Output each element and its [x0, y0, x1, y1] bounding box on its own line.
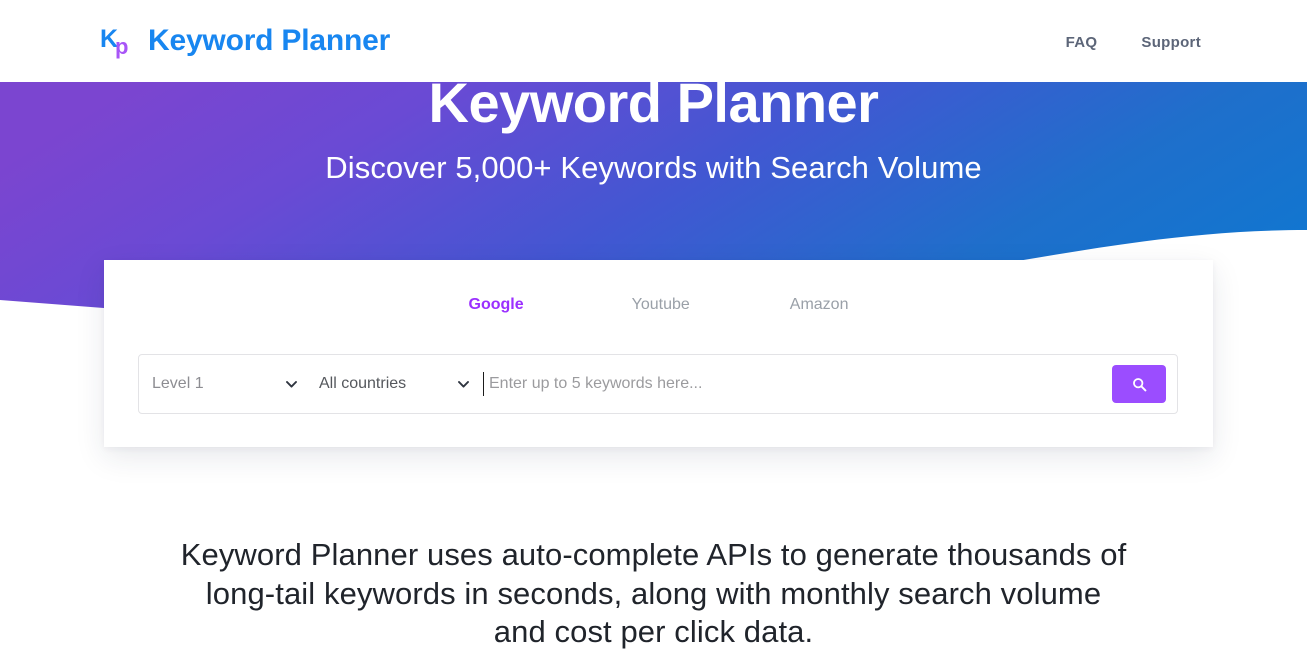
country-select-value: All countries — [319, 355, 406, 413]
keyword-input[interactable]: Enter up to 5 keywords here... — [483, 355, 1112, 413]
search-row: Level 1 All countries Enter up to 5 keyw… — [138, 354, 1178, 414]
tab-amazon[interactable]: Amazon — [780, 290, 859, 320]
engine-tabs: Google Youtube Amazon — [104, 290, 1213, 320]
nav-link-faq[interactable]: FAQ — [1060, 30, 1104, 55]
site-header: K p Keyword Planner FAQ Support — [0, 0, 1307, 82]
brand-logo-link[interactable]: K p Keyword Planner — [100, 21, 390, 61]
chevron-down-icon — [286, 381, 297, 388]
page-root: Keyword Planner Discover 5,000+ Keywords… — [0, 0, 1307, 656]
nav-link-support[interactable]: Support — [1135, 30, 1207, 55]
level-select[interactable]: Level 1 — [139, 355, 311, 413]
brand-title: Keyword Planner — [148, 21, 390, 61]
tab-youtube[interactable]: Youtube — [622, 290, 700, 320]
kp-monogram-icon: K p — [100, 21, 134, 61]
hero-subtitle: Discover 5,000+ Keywords with Search Vol… — [0, 148, 1307, 188]
hero-text-block: Keyword Planner Discover 5,000+ Keywords… — [0, 82, 1307, 188]
country-select[interactable]: All countries — [311, 355, 483, 413]
chevron-down-icon — [458, 381, 469, 388]
search-icon — [1132, 377, 1147, 392]
text-caret — [483, 372, 484, 396]
search-button[interactable] — [1112, 365, 1166, 403]
svg-text:p: p — [115, 34, 128, 59]
main-nav: FAQ Support — [1060, 30, 1207, 55]
description-text: Keyword Planner uses auto-complete APIs … — [0, 536, 1307, 652]
tab-google[interactable]: Google — [459, 290, 534, 320]
search-card: Google Youtube Amazon Level 1 All countr… — [104, 260, 1213, 447]
level-select-value: Level 1 — [152, 355, 204, 413]
keyword-input-placeholder: Enter up to 5 keywords here... — [485, 355, 702, 413]
